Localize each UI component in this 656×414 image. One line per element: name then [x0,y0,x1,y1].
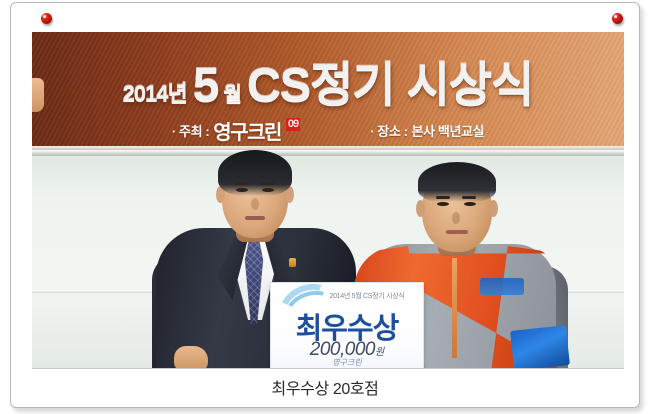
hand-holding-certificate [32,78,44,112]
presenter-lapel-pin-icon [289,258,296,267]
recipient-eyebrow-left [436,196,450,199]
presenter-eyebrow-left [235,182,249,185]
presenter-nose [251,198,259,210]
host-logo-mark-icon: 09 [286,118,300,131]
recipient-company-badge-icon [480,278,524,295]
recipient-mouth [446,230,468,234]
event-banner: 2014년 5 월 CS정기 시상식 · 주최 : 영구크린 09 · 장소 :… [32,32,624,150]
certificate-signature: 영구크린 [271,357,423,368]
recipient-hair [418,162,496,202]
banner-month-number: 5 [193,64,218,107]
certificate-event-line: 2014년 5월 CS정기 시상식 [317,291,417,301]
banner-month-unit: 월 [223,78,240,107]
presenter-eye-right [262,188,274,192]
photo-card: 2014년 5 월 CS정기 시상식 · 주최 : 영구크린 09 · 장소 :… [10,2,640,408]
banner-year: 2014년 [123,76,187,108]
banner-subtitle-row: · 주최 : 영구크린 09 · 장소 : 본사 백년교실 [32,116,624,145]
presenter-hair [218,150,292,196]
recipient-nose [452,212,460,224]
banner-title: 2014년 5 월 CS정기 시상식 [32,46,624,115]
banner-host-label: · 주최 : [172,121,209,140]
banner-host-group: · 주최 : 영구크린 09 [172,116,300,145]
photo-caption: 최우수상 20호점 [11,375,639,399]
recipient-vest-zipper [452,258,457,358]
banner-venue-label: · 장소 : [370,121,407,140]
recipient-eyebrow-right [462,196,476,199]
presenter-eye-left [236,188,248,192]
recipient-eye-right [464,202,476,206]
banner-host-name: 영구크린 [213,116,281,145]
recipient-ear-right [489,200,498,217]
recipient-blue-envelope [510,325,570,369]
banner-main-title: CS정기 시상식 [247,46,534,115]
pushpin-icon-right [612,13,623,24]
recipient-ear-left [416,200,425,217]
event-photograph[interactable]: 2014년 5 월 CS정기 시상식 · 주최 : 영구크린 09 · 장소 :… [32,32,624,369]
presenter-eyebrow-right [260,182,274,185]
recipient-eye-left [437,202,449,206]
award-certificate-board: 2014년 5월 CS정기 시상식 최우수상 200,000원 영구크린 [270,282,424,369]
presenter-hand [174,346,208,369]
pushpin-icon-left [41,13,52,24]
presenter-mouth [245,216,265,220]
banner-bottom-trim [32,146,624,150]
banner-venue-group: · 장소 : 본사 백년교실 [370,121,484,140]
banner-venue-name: 본사 백년교실 [412,121,485,140]
